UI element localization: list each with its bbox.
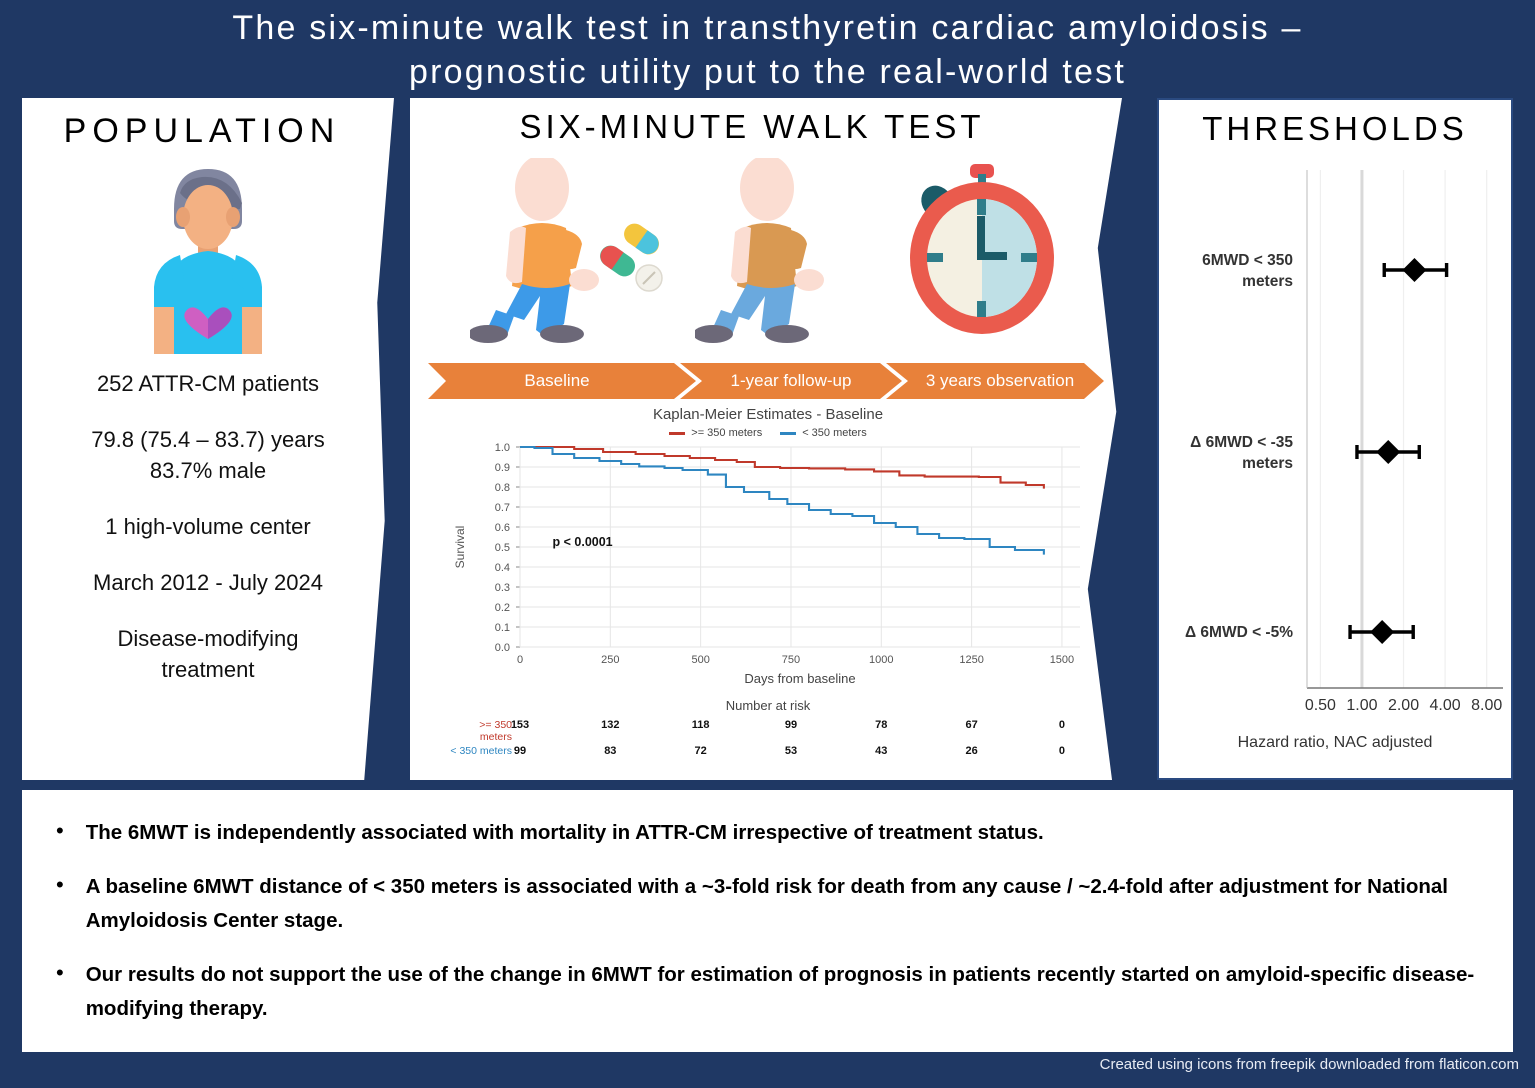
risk-row-value: 43 — [861, 745, 901, 757]
risk-table-caption: Number at risk — [448, 698, 1088, 713]
km-x-tick: 1500 — [1050, 654, 1074, 666]
legend-swatch-blue — [780, 432, 796, 435]
km-y-tick: 1.0 — [495, 442, 510, 454]
km-pvalue-annotation: p < 0.0001 — [553, 535, 613, 549]
km-plot-area: 0.00.10.20.30.40.50.60.70.80.91.00250500… — [448, 439, 1088, 694]
risk-row-value: 99 — [500, 745, 540, 757]
risk-row-value: 26 — [952, 745, 992, 757]
risk-row-value: 0 — [1042, 745, 1082, 757]
km-x-tick: 1000 — [869, 654, 893, 666]
forest-row-label: 6MWD < 350 — [1202, 252, 1293, 269]
conclusion-text-1: A baseline 6MWT distance of < 350 meters… — [86, 870, 1479, 938]
risk-table-row: >= 350 meters1531321189978670 — [448, 715, 1088, 741]
test-icon-row — [410, 148, 1122, 343]
risk-row-value: 67 — [952, 719, 992, 731]
timeline-step-observation: 3 years observation — [896, 363, 1104, 399]
study-timeline: Baseline 1-year follow-up 3 years observ… — [428, 363, 1104, 399]
forest-x-tick: 0.50 — [1305, 697, 1336, 714]
risk-row-value: 83 — [590, 745, 630, 757]
risk-row-value: 118 — [681, 719, 721, 731]
km-y-tick: 0.9 — [495, 462, 510, 474]
km-y-tick: 0.5 — [495, 542, 510, 554]
forest-row-label: meters — [1242, 455, 1293, 472]
bullet-marker: • — [56, 816, 64, 850]
conclusions-panel: • The 6MWT is independently associated w… — [22, 790, 1513, 1052]
km-x-axis-label: Days from baseline — [744, 671, 855, 686]
risk-table-row: < 350 meters9983725343260 — [448, 741, 1088, 767]
walking-person-icon — [695, 158, 845, 343]
forest-row-label: Δ 6MWD < -5% — [1185, 624, 1293, 641]
population-heading: POPULATION — [22, 112, 394, 151]
km-x-tick: 250 — [601, 654, 619, 666]
km-y-tick: 0.0 — [495, 642, 510, 654]
population-facts: 252 ATTR-CM patients 79.8 (75.4 – 83.7) … — [22, 368, 394, 685]
km-y-tick: 0.3 — [495, 582, 510, 594]
km-legend-item: < 350 meters — [780, 427, 867, 439]
forest-row-label: meters — [1242, 273, 1293, 290]
page-title: The six-minute walk test in transthyreti… — [0, 6, 1535, 94]
conclusion-bullet: • Our results do not support the use of … — [56, 958, 1479, 1026]
risk-row-value: 132 — [590, 719, 630, 731]
population-fact-0: 252 ATTR-CM patients — [22, 368, 394, 399]
km-x-tick: 0 — [517, 654, 523, 666]
risk-row-value: 72 — [681, 745, 721, 757]
km-y-tick: 0.1 — [495, 622, 510, 634]
km-chart-title: Kaplan-Meier Estimates - Baseline — [448, 406, 1088, 423]
stopwatch-icon — [890, 158, 1070, 338]
km-legend-item: >= 350 meters — [669, 427, 762, 439]
forest-axis-title: Hazard ratio, NAC adjusted — [1159, 734, 1511, 752]
km-x-tick: 500 — [691, 654, 709, 666]
forest-row-label: Δ 6MWD < -35 — [1190, 434, 1293, 451]
km-y-tick: 0.4 — [495, 562, 510, 574]
legend-label-red: >= 350 meters — [691, 427, 762, 439]
bullet-marker: • — [56, 870, 64, 938]
km-x-tick: 1250 — [959, 654, 983, 666]
six-minute-walk-test-panel: SIX-MINUTE WALK TEST — [410, 98, 1122, 780]
conclusion-text-0: The 6MWT is independently associated wit… — [86, 816, 1044, 850]
km-curve-high — [520, 447, 1044, 489]
risk-row-value: 78 — [861, 719, 901, 731]
forest-x-tick: 4.00 — [1430, 697, 1461, 714]
legend-label-blue: < 350 meters — [802, 427, 867, 439]
number-at-risk-table: Number at risk >= 350 meters153132118997… — [448, 698, 1088, 767]
bullet-marker: • — [56, 958, 64, 1026]
forest-x-tick: 8.00 — [1471, 697, 1502, 714]
risk-row-value: 53 — [771, 745, 811, 757]
thresholds-heading: THRESHOLDS — [1159, 110, 1511, 148]
pills-icon — [595, 216, 675, 296]
title-line-2: prognostic utility put to the real-world… — [0, 50, 1535, 94]
population-fact-2: 1 high-volume center — [22, 511, 394, 542]
conclusion-text-2: Our results do not support the use of th… — [86, 958, 1479, 1026]
test-heading: SIX-MINUTE WALK TEST — [410, 108, 1122, 146]
patient-avatar-icon — [128, 159, 288, 354]
km-legend: >= 350 meters < 350 meters — [448, 427, 1088, 439]
thresholds-panel: THRESHOLDS 0.501.002.004.008.006MWD < 35… — [1157, 98, 1513, 780]
population-fact-3: March 2012 - July 2024 — [22, 567, 394, 598]
km-y-tick: 0.2 — [495, 602, 510, 614]
km-y-tick: 0.8 — [495, 482, 510, 494]
legend-swatch-red — [669, 432, 685, 435]
timeline-step-baseline: Baseline — [428, 363, 686, 399]
risk-row-value: 0 — [1042, 719, 1082, 731]
conclusion-bullet: • The 6MWT is independently associated w… — [56, 816, 1479, 850]
risk-row-value: 99 — [771, 719, 811, 731]
km-y-axis-label: Survival — [453, 526, 467, 569]
forest-plot-area: 0.501.002.004.008.006MWD < 350metersΔ 6M… — [1159, 160, 1511, 730]
attribution-footer: Created using icons from freepik downloa… — [0, 1056, 1535, 1073]
km-x-tick: 750 — [782, 654, 800, 666]
risk-row-value: 153 — [500, 719, 540, 731]
kaplan-meier-chart: Kaplan-Meier Estimates - Baseline >= 350… — [448, 406, 1088, 766]
poster-root: The six-minute walk test in transthyreti… — [0, 0, 1535, 1088]
forest-x-tick: 1.00 — [1346, 697, 1377, 714]
km-y-tick: 0.7 — [495, 502, 510, 514]
population-panel: POPULATION 252 ATTR-CM patients — [22, 98, 394, 780]
km-y-tick: 0.6 — [495, 522, 510, 534]
population-fact-1: 79.8 (75.4 – 83.7) years 83.7% male — [22, 424, 394, 486]
forest-x-tick: 2.00 — [1388, 697, 1419, 714]
conclusion-bullet: • A baseline 6MWT distance of < 350 mete… — [56, 870, 1479, 938]
title-line-1: The six-minute walk test in transthyreti… — [232, 9, 1302, 47]
population-fact-4: Disease-modifying treatment — [22, 623, 394, 685]
forest-plot: 0.501.002.004.008.006MWD < 350metersΔ 6M… — [1159, 160, 1511, 760]
timeline-step-followup: 1-year follow-up — [686, 363, 896, 399]
